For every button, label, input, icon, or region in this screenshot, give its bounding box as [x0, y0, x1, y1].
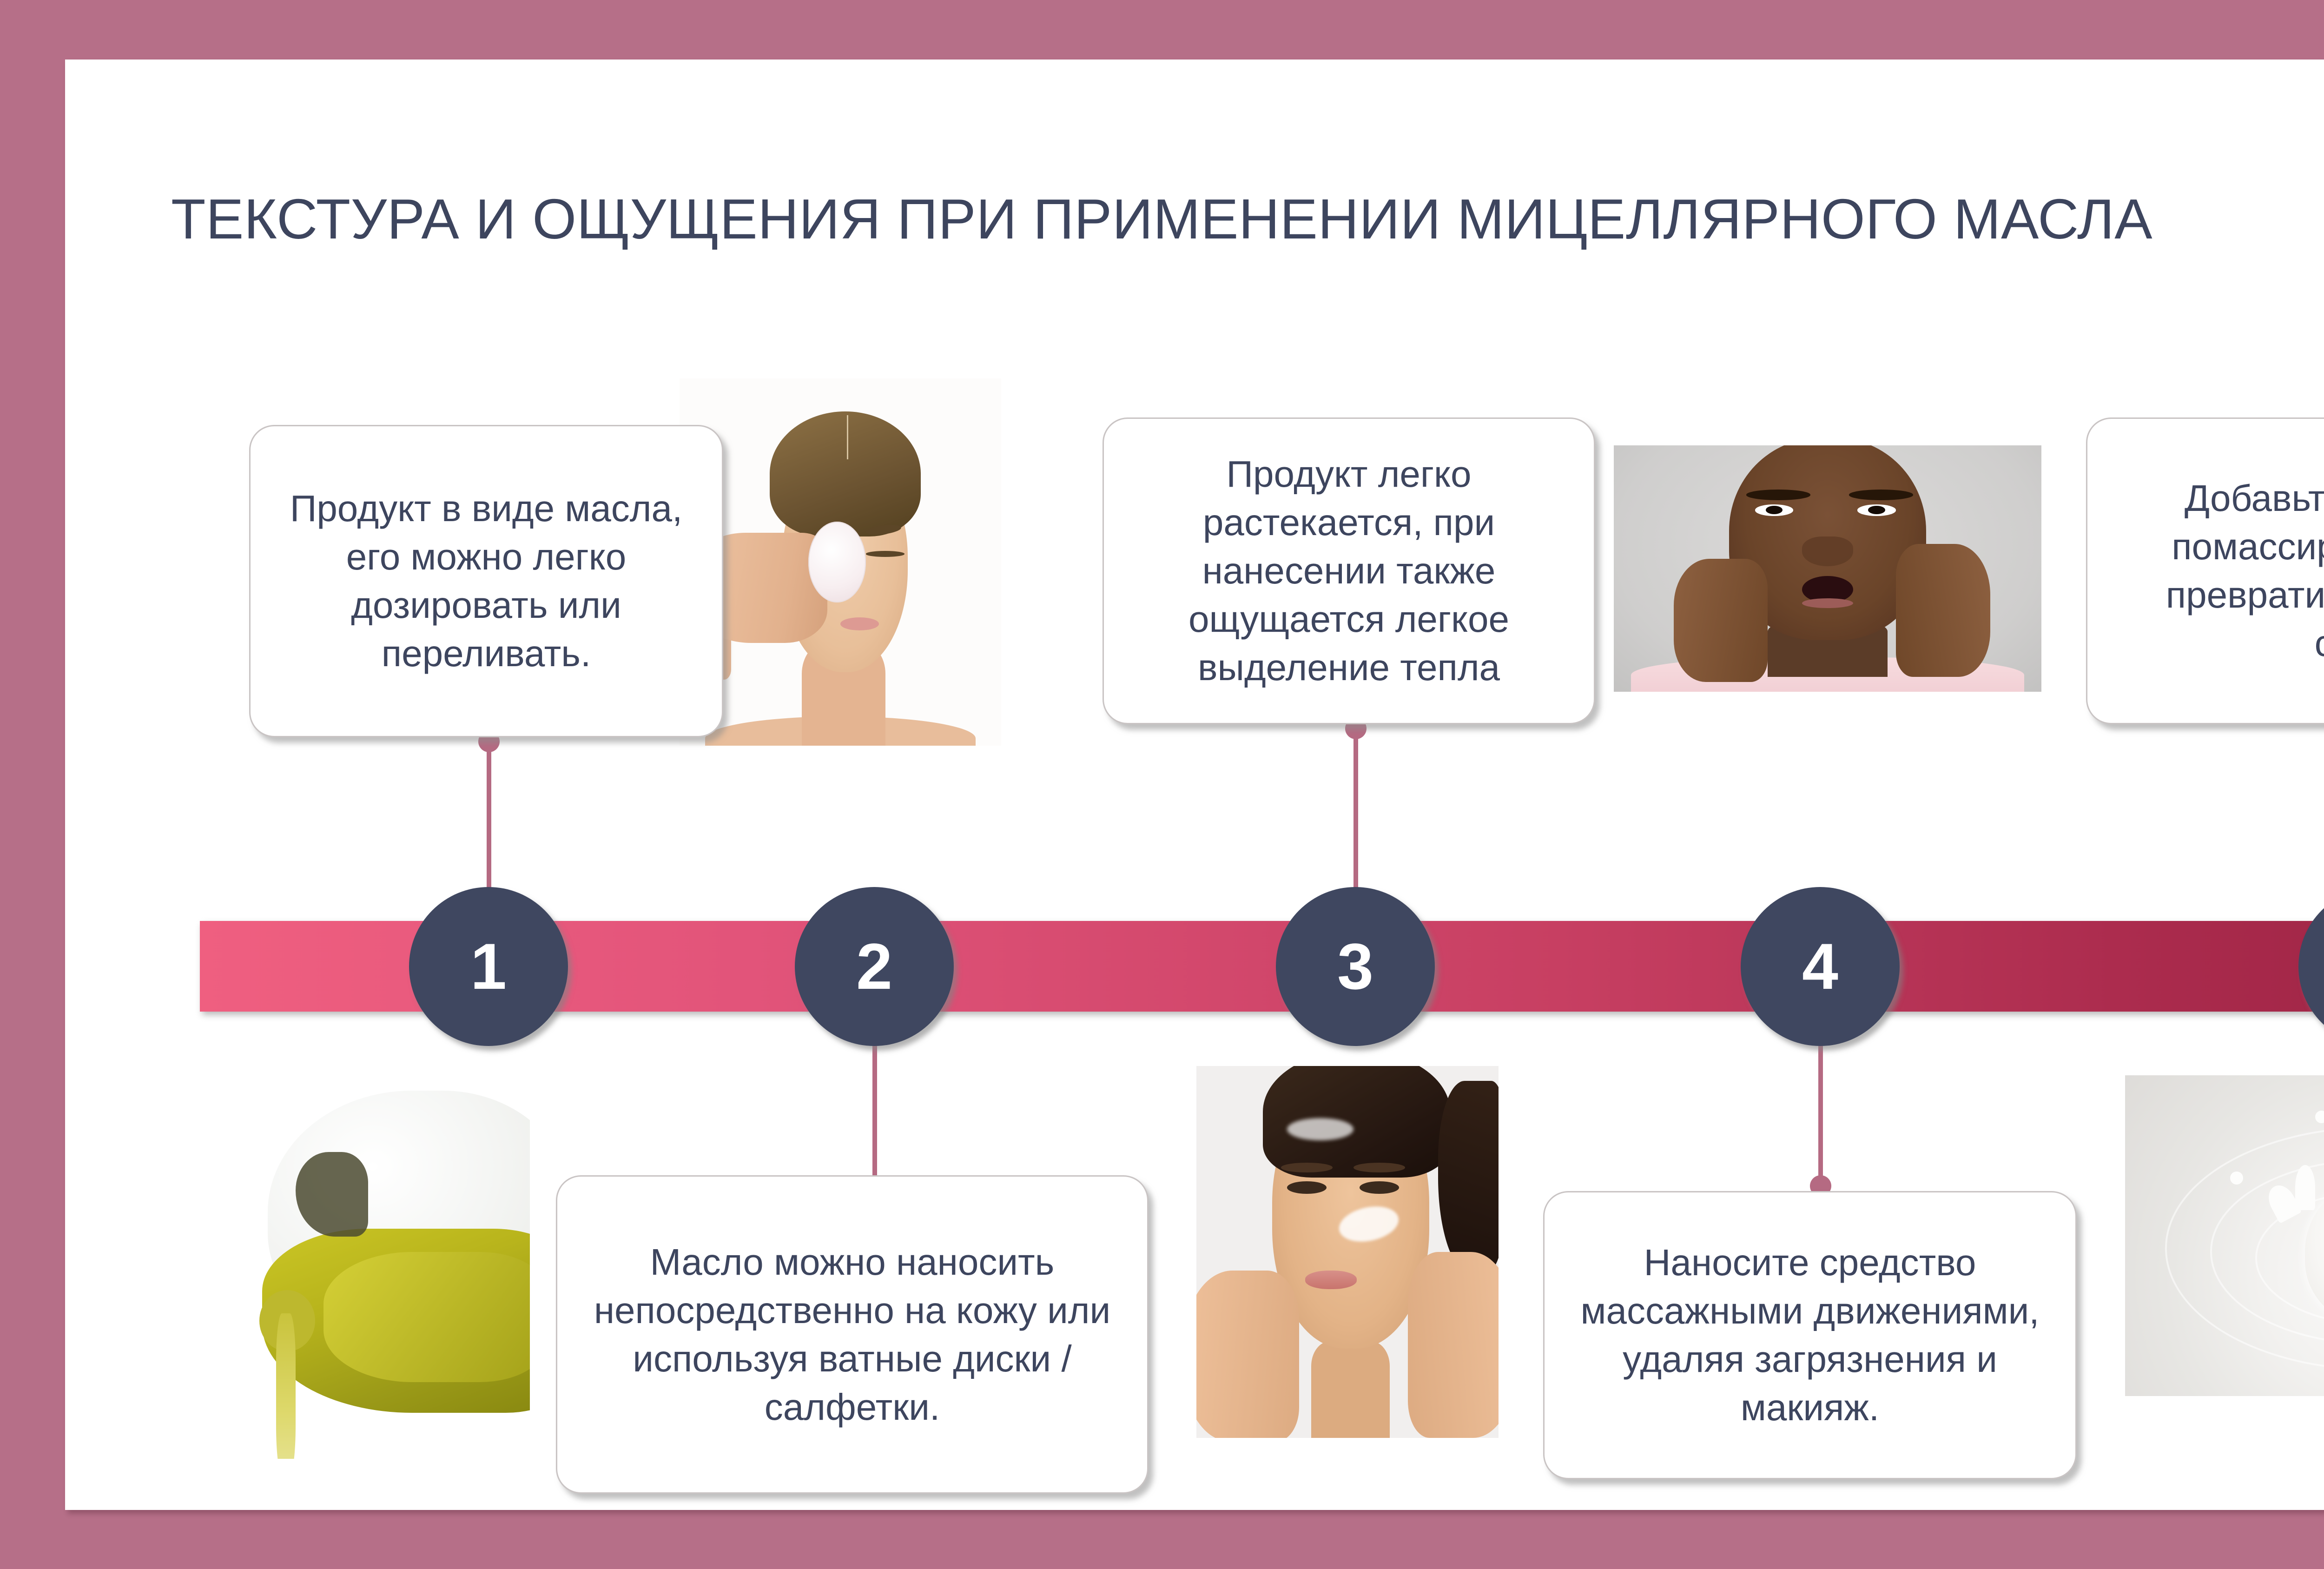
slide-canvas: ТЕКСТУРА И ОЩУЩЕНИЯ ПРИ ПРИМЕНЕНИИ МИЦЕЛ… [65, 60, 2324, 1510]
slide-frame: ТЕКСТУРА И ОЩУЩЕНИЯ ПРИ ПРИМЕНЕНИИ МИЦЕЛ… [0, 0, 2324, 1569]
step-number-3: 3 [1337, 929, 1373, 1004]
callout-text-step-5: Добавьте теплую воду, помассируйте, сред… [2109, 474, 2324, 668]
step-circle-3[interactable]: 3 [1276, 887, 1435, 1046]
callout-text-step-2: Масло можно наносить непосредственно на … [579, 1238, 1126, 1431]
callout-box-step-3[interactable]: Продукт легко растекается, при нанесении… [1103, 417, 1595, 724]
page-title: ТЕКСТУРА И ОЩУЩЕНИЯ ПРИ ПРИМЕНЕНИИ МИЦЕЛ… [171, 184, 2324, 254]
callout-box-step-2[interactable]: Масло можно наносить непосредственно на … [556, 1175, 1149, 1494]
step-circle-1[interactable]: 1 [409, 887, 568, 1046]
milk-splash-photo [2125, 1075, 2324, 1396]
man-massaging-face-photo [1614, 445, 2041, 692]
step-number-4: 4 [1802, 929, 1838, 1004]
callout-text-step-4: Наносите средство массажными движениями,… [1566, 1238, 2054, 1432]
step-circle-5[interactable]: 5 [2298, 887, 2324, 1046]
woman-applying-cream-photo [1196, 1066, 1499, 1438]
callout-text-step-1: Продукт в виде масла, его можно легко до… [272, 484, 700, 678]
callout-box-step-1[interactable]: Продукт в виде масла, его можно легко до… [249, 425, 723, 737]
step-circle-2[interactable]: 2 [795, 887, 954, 1046]
step-circle-4[interactable]: 4 [1741, 887, 1900, 1046]
callout-box-step-4[interactable]: Наносите средство массажными движениями,… [1543, 1191, 2077, 1479]
step-number-2: 2 [856, 929, 892, 1004]
olive-oil-pouring-photo [251, 1075, 530, 1459]
step-number-1: 1 [470, 929, 507, 1004]
callout-text-step-3: Продукт легко растекается, при нанесении… [1125, 450, 1572, 692]
callout-box-step-5[interactable]: Добавьте теплую воду, помассируйте, сред… [2086, 417, 2324, 724]
woman-cotton-pad-photo [680, 378, 1001, 746]
